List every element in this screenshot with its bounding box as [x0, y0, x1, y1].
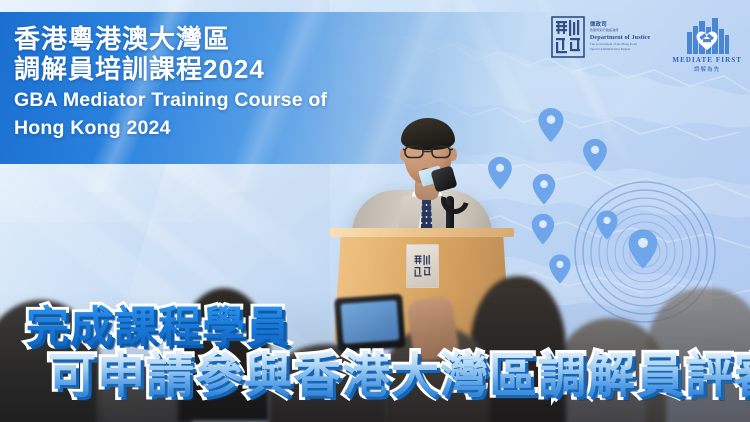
doj-seal-icon — [551, 16, 585, 58]
map-pin-icon — [583, 139, 608, 171]
doj-logo-text: 律政司 香港特別行政區政府 Department of Justice The … — [590, 23, 651, 52]
speaker-glasses-icon — [403, 144, 453, 159]
title-en-line1: GBA Mediator Training Course of — [14, 88, 534, 112]
podium-doj-seal-icon — [406, 244, 439, 288]
title-cn-line1: 香港粵港澳大灣區 — [14, 24, 534, 54]
doj-cn-gov: 香港特別行政區政府 — [590, 29, 651, 32]
backdrop-title: 香港粵港澳大灣區 調解員培訓課程2024 GBA Mediator Traini… — [14, 24, 534, 140]
news-photo: 香港粵港澳大灣區 調解員培訓課程2024 GBA Mediator Traini… — [0, 0, 750, 422]
doj-logo: 律政司 香港特別行政區政府 Department of Justice The … — [551, 16, 651, 58]
doj-en-gov-2: Special Administrative Region — [590, 47, 651, 51]
map-pin-icon — [488, 157, 513, 189]
backdrop-logos: 律政司 香港特別行政區政府 Department of Justice The … — [551, 16, 742, 73]
map-pin-icon — [538, 108, 564, 142]
map-pin-icon — [596, 211, 618, 240]
caption-line2: 可申請參與香港大灣區調解員評審 — [48, 350, 750, 404]
doj-en-gov-1: The Government of the Hong Kong — [590, 42, 651, 46]
caption-line1: 完成課程學員 — [26, 304, 290, 352]
doj-en-dept: Department of Justice — [590, 35, 651, 42]
mediate-first-cn: 調解為先 — [694, 65, 720, 73]
map-pin-icon — [532, 174, 555, 205]
title-en-line2: Hong Kong 2024 — [14, 116, 534, 140]
mediate-first-skyline-heart-icon — [684, 16, 730, 54]
title-cn-line2: 調解員培訓課程2024 — [14, 54, 534, 84]
mediate-first-logo: MEDIATE FIRST 調解為先 — [672, 16, 742, 73]
mediate-first-en: MEDIATE FIRST — [672, 56, 742, 64]
map-pin-icon — [549, 255, 571, 284]
map-pin-icon — [531, 214, 554, 245]
map-pin-icon-center — [628, 229, 658, 268]
podium-top-edge — [330, 228, 514, 237]
